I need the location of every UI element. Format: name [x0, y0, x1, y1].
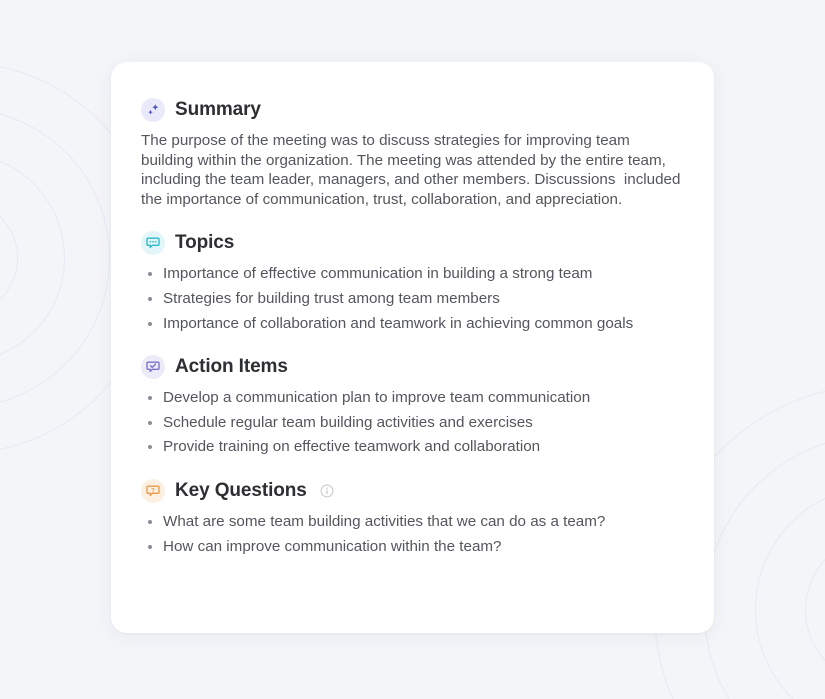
section-header-topics: Topics	[141, 231, 684, 255]
list-item: How can improve communication within the…	[141, 537, 684, 557]
list-item: Schedule regular team building activitie…	[141, 413, 684, 433]
list-item: Importance of collaboration and teamwork…	[141, 314, 684, 334]
decor-ring-right-2	[755, 485, 825, 699]
section-summary: Summary The purpose of the meeting was t…	[141, 98, 684, 209]
key-questions-list: What are some team building activities t…	[141, 512, 684, 556]
section-header-key-questions: ? Key Questions	[141, 479, 684, 503]
section-title: Summary	[175, 99, 261, 121]
decor-ring-left-3	[0, 108, 110, 408]
section-topics: Topics Importance of effective communica…	[141, 231, 684, 333]
chat-bubble-dots-icon	[141, 231, 165, 255]
section-title: Action Items	[175, 356, 288, 378]
section-key-questions: ? Key Questions What are some team build…	[141, 479, 684, 556]
sparkle-icon	[141, 98, 165, 122]
list-item: Strategies for building trust among team…	[141, 289, 684, 309]
topics-list: Importance of effective communication in…	[141, 264, 684, 333]
decor-ring-right-3	[704, 434, 825, 699]
meeting-notes-card: Summary The purpose of the meeting was t…	[111, 62, 714, 633]
action-items-list: Develop a communication plan to improve …	[141, 388, 684, 457]
section-title: Key Questions	[175, 480, 307, 502]
list-item: What are some team building activities t…	[141, 512, 684, 532]
decor-ring-left-1	[0, 200, 18, 316]
list-item: Develop a communication plan to improve …	[141, 388, 684, 408]
section-action-items: Action Items Develop a communication pla…	[141, 355, 684, 457]
list-item: Importance of effective communication in…	[141, 264, 684, 284]
section-header-action-items: Action Items	[141, 355, 684, 379]
decor-ring-left-2	[0, 153, 65, 363]
section-title: Topics	[175, 232, 234, 254]
svg-text:?: ?	[151, 487, 155, 494]
chat-bubble-question-icon: ?	[141, 479, 165, 503]
chat-bubble-check-icon	[141, 355, 165, 379]
section-header-summary: Summary	[141, 98, 684, 122]
decor-ring-right-1	[805, 535, 825, 685]
summary-paragraph: The purpose of the meeting was to discus…	[141, 131, 684, 209]
info-circle-icon[interactable]	[320, 484, 334, 498]
list-item: Provide training on effective teamwork a…	[141, 437, 684, 457]
